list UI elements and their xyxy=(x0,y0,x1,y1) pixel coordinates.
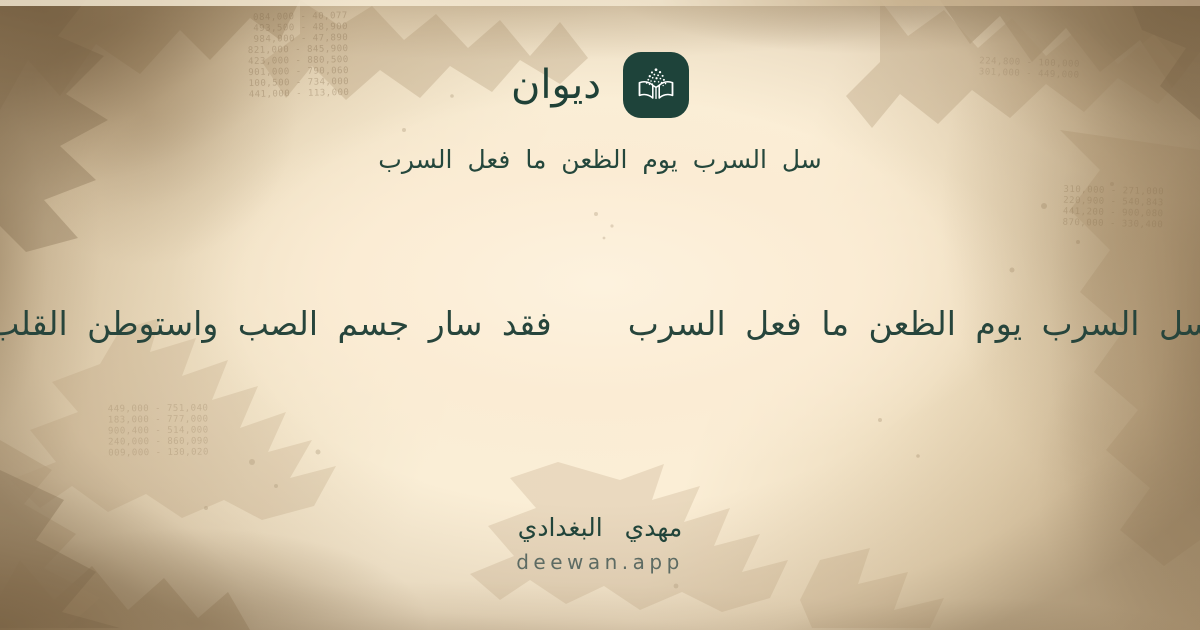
brand-lockup: ديوان xyxy=(511,52,689,118)
verse-block: سل السرب يوم الظعن ما فعل السرب فقد سار … xyxy=(0,302,1200,347)
verse-line: سل السرب يوم الظعن ما فعل السرب فقد سار … xyxy=(0,302,1200,347)
brand-name: ديوان xyxy=(511,65,601,105)
open-book-sparkles-icon xyxy=(634,63,678,107)
site-url: deewan.app xyxy=(0,550,1200,574)
poem-author: مهدي البغدادي xyxy=(0,512,1200,545)
deewan-logo-mark xyxy=(623,52,689,118)
share-card: 40,077 - 084,000 48,900 - 493,500 47,890… xyxy=(0,0,1200,630)
card-footer: مهدي البغدادي deewan.app xyxy=(0,512,1200,575)
verse-hemistich-second: فقد سار جسم الصب واستوطن القلب xyxy=(0,302,552,347)
poem-title: سل السرب يوم الظعن ما فعل السرب xyxy=(378,144,821,177)
verse-hemistich-first: سل السرب يوم الظعن ما فعل السرب xyxy=(628,302,1200,347)
